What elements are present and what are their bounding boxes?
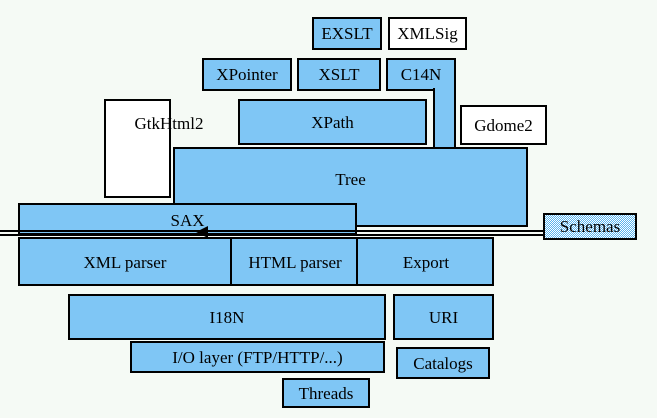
node-catalogs[interactable]: Catalogs — [396, 347, 490, 379]
node-xpath[interactable]: XPath — [238, 99, 427, 145]
parser-divider-1 — [230, 239, 232, 284]
c14n-to-tree-stem — [433, 88, 456, 152]
architecture-diagram: EXSLT XMLSig XPointer XSLT C14N GtkHtml2… — [0, 0, 657, 418]
node-gtkhtml2-label: GtkHtml2 — [114, 115, 224, 132]
node-xmlsig[interactable]: XMLSig — [388, 17, 467, 50]
node-xslt[interactable]: XSLT — [297, 58, 381, 91]
schemas-to-sax-shaft-second — [0, 234, 545, 236]
node-xml-parser[interactable]: XML parser — [20, 254, 230, 271]
stem-seam-top — [435, 86, 454, 92]
node-xpointer[interactable]: XPointer — [202, 58, 292, 91]
node-gtkhtml2[interactable]: GtkHtml2 — [104, 99, 171, 198]
node-tree-label: Tree — [175, 171, 526, 188]
node-threads[interactable]: Threads — [282, 378, 370, 408]
node-sax-label: SAX — [20, 212, 355, 229]
node-exslt[interactable]: EXSLT — [312, 17, 382, 50]
node-gdome2[interactable]: Gdome2 — [460, 105, 547, 145]
node-html-parser[interactable]: HTML parser — [232, 254, 358, 271]
node-io-layer[interactable]: I/O layer (FTP/HTTP/...) — [130, 341, 385, 373]
node-export[interactable]: Export — [360, 254, 492, 271]
node-uri[interactable]: URI — [393, 294, 494, 340]
schemas-to-sax-shaft — [0, 230, 545, 232]
parser-divider-2 — [356, 239, 358, 284]
parser-row: XML parser HTML parser Export — [18, 237, 494, 286]
node-schemas[interactable]: Schemas — [543, 213, 637, 240]
node-i18n[interactable]: I18N — [68, 294, 386, 340]
